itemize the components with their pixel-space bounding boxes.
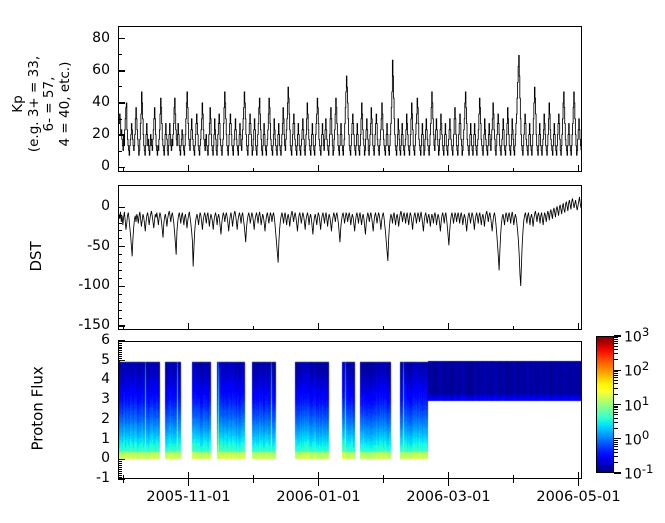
- cbar-tick-minor: [614, 383, 618, 384]
- cbar-tick-minor: [614, 412, 618, 413]
- cbar-tick-minor: [614, 414, 618, 415]
- ytick-label: 3: [62, 391, 110, 407]
- cbar-tick-minor: [614, 346, 618, 347]
- xtick-minor-out: [513, 479, 514, 483]
- ytick-label: 5: [62, 352, 110, 368]
- cbar-tick-minor: [614, 449, 618, 450]
- cbar-tick-label: 101: [624, 394, 649, 415]
- ytick-label: 6: [62, 332, 110, 348]
- cbar-tick-label: 10-1: [624, 462, 653, 483]
- cbar-tick-label: 103: [624, 325, 649, 346]
- cbar-tick-minor: [614, 343, 618, 344]
- cbar-tick-minor: [614, 371, 618, 372]
- ylabel-kp-line: (e.g. 3+ = 33,: [26, 56, 42, 152]
- cbar-tick-minor: [614, 373, 618, 374]
- cbar-tick-minor: [614, 446, 618, 447]
- cbar-tick-minor: [614, 406, 618, 407]
- xtick-major-out: [578, 479, 579, 486]
- cbar-tick-minor: [614, 353, 618, 354]
- cbar-tick-label: 100: [624, 428, 649, 449]
- kp-trace: [119, 27, 581, 171]
- xtick-label: 2006-01-01: [264, 489, 374, 505]
- ylabel-kp-line: Kp: [11, 95, 27, 112]
- xtick-major-out: [448, 479, 449, 486]
- cbar-tick-major: [614, 472, 621, 473]
- ylabel-kp-line: 6- = 57,: [42, 77, 58, 132]
- xtick-major-out: [318, 479, 319, 486]
- cbar-tick-minor: [614, 409, 618, 410]
- xtick-minor-out: [253, 479, 254, 483]
- cbar-tick-label: 102: [624, 359, 649, 380]
- ylabel-kp-line: 4 = 40, etc.): [58, 62, 74, 147]
- ytick-label: 0: [60, 198, 110, 214]
- figure-root: 0204060800-50-100-1506543210-1Kp(e.g. 3+…: [0, 0, 665, 523]
- ytick-label: 0: [62, 450, 110, 466]
- cbar-tick-minor: [614, 388, 618, 389]
- cbar-tick-minor: [614, 349, 618, 350]
- xtick-major-out: [188, 479, 189, 486]
- cbar-tick-minor: [614, 422, 618, 423]
- cbar-tick-minor: [614, 337, 618, 338]
- cbar-tick-minor: [614, 377, 618, 378]
- cbar-tick-minor: [614, 418, 618, 419]
- cbar-tick-minor: [614, 375, 618, 376]
- cbar-tick-minor: [614, 428, 618, 429]
- ytick-label: 2: [62, 411, 110, 427]
- cbar-tick-minor: [614, 442, 618, 443]
- xtick-label: 2005-11-01: [134, 489, 244, 505]
- cbar-tick-minor: [614, 359, 618, 360]
- cbar-tick-minor: [614, 339, 618, 340]
- ytick-label: -100: [60, 277, 110, 293]
- cbar-tick-minor: [614, 462, 618, 463]
- ylabel-dst: DST: [28, 183, 45, 328]
- cbar-tick-minor: [614, 444, 618, 445]
- ytick-label: 1: [62, 431, 110, 447]
- cbar-tick-minor: [614, 380, 618, 381]
- dst-trace: [119, 186, 581, 329]
- proton-flux-colorbar: [596, 336, 614, 473]
- cbar-tick-minor: [614, 341, 618, 342]
- ylabel-proton-flux: Proton Flux: [30, 339, 47, 477]
- cbar-tick-minor: [614, 394, 618, 395]
- cbar-tick-minor: [614, 407, 618, 408]
- ytick-label: -1: [62, 470, 110, 486]
- xtick-label: 2006-03-01: [394, 489, 504, 505]
- panel-proton-flux-frame: [118, 341, 582, 479]
- xtick-minor-out: [383, 479, 384, 483]
- xtick-minor-out: [123, 479, 124, 483]
- xtick-label: 2006-05-01: [524, 489, 634, 505]
- ytick-label: 4: [62, 371, 110, 387]
- ytick-label: -50: [60, 238, 110, 254]
- ylabel-kp: Kp(e.g. 3+ = 33,6- = 57,4 = 40, etc.): [11, 11, 73, 197]
- ytick-label: -150: [60, 317, 110, 333]
- cbar-tick-minor: [614, 452, 618, 453]
- cbar-tick-minor: [614, 456, 618, 457]
- cbar-tick-minor: [614, 440, 618, 441]
